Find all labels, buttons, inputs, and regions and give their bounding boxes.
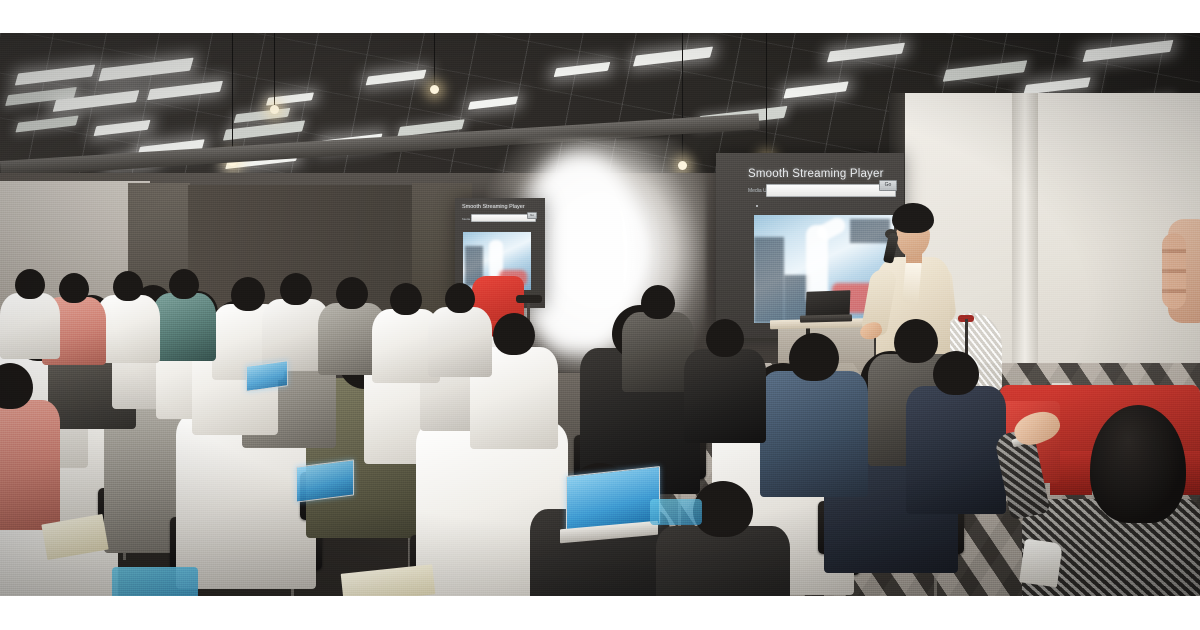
attendee-torso <box>0 293 60 359</box>
attendee-torso <box>152 293 216 361</box>
video-figure-arm <box>814 215 848 243</box>
light-stand-head <box>516 295 542 303</box>
attendee-head <box>169 269 199 299</box>
handout-paper <box>341 564 436 596</box>
attendee-head <box>693 481 753 537</box>
attendee-head <box>15 269 45 299</box>
attendee-torso <box>684 349 766 443</box>
pendant-light <box>430 85 439 94</box>
attendee-torso <box>906 386 1006 514</box>
letterbox-bar-top <box>0 0 1200 33</box>
screen-main-url-input <box>766 184 896 197</box>
attendee-head <box>445 283 475 313</box>
attendee-head <box>706 319 744 357</box>
teal-chair-cushion <box>650 499 702 525</box>
conference-photograph: ction do Smooth Streaming Player Media U… <box>0 33 1200 596</box>
video-shadow-left <box>754 237 784 323</box>
screen-bullet-dot <box>756 205 758 207</box>
pendant-light-rod <box>274 33 275 105</box>
attendee-torso <box>0 400 60 530</box>
attendee-head <box>789 333 839 381</box>
attendee-head <box>390 283 422 315</box>
screen-main-title: Smooth Streaming Player <box>748 168 884 180</box>
pendant-light-rod <box>434 33 435 85</box>
pendant-light-rod <box>232 33 233 157</box>
attendee-far-right-a <box>906 351 1006 523</box>
foreground-woman-collar <box>1019 539 1063 588</box>
attendee-torso <box>760 371 868 497</box>
presenter-laptop-base <box>800 314 852 322</box>
attendee-head <box>231 277 265 311</box>
pendant-light-rod <box>766 33 767 155</box>
attendee-head <box>641 285 675 319</box>
attendee-mid-gap-b <box>684 319 766 451</box>
attendee-back-row-i <box>0 269 60 365</box>
letterbox-bar-bottom <box>0 596 1200 630</box>
attendee-head <box>933 351 979 395</box>
attendee-head <box>493 313 535 355</box>
attendee-head <box>280 273 312 305</box>
blue-bag <box>112 567 198 596</box>
attendee-head <box>59 273 89 303</box>
attendee-torso <box>428 307 492 377</box>
screen-side-title: Smooth Streaming Player <box>462 204 525 210</box>
attendee-head <box>336 277 368 309</box>
edge-fingers <box>1162 233 1186 309</box>
screen-side-go-button: Go <box>527 212 537 219</box>
screen-main-go-button: Go <box>879 180 897 191</box>
attendee-back-row-h <box>428 283 492 383</box>
attendee-back-row-e <box>152 269 216 367</box>
attendee-head <box>113 271 143 301</box>
presenter-hair <box>892 203 934 233</box>
pendant-light <box>270 105 279 114</box>
attendee-tablet-left <box>296 459 354 502</box>
photo-screenshot: ction do Smooth Streaming Player Media U… <box>0 0 1200 630</box>
attendee-front-far-left <box>0 363 60 539</box>
